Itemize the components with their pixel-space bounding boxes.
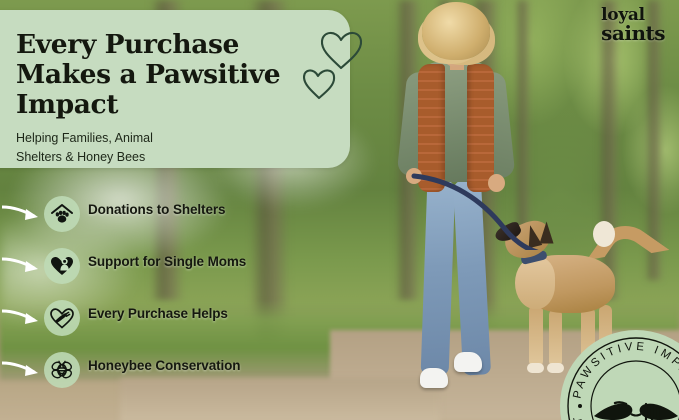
woman-hair — [422, 2, 490, 60]
list-item: Support for Single Moms — [0, 242, 340, 294]
woman-hand — [406, 168, 422, 184]
woman-hand — [488, 174, 505, 192]
feature-list: Donations to Shelters Support for Single… — [0, 190, 340, 398]
woman-shoe — [420, 368, 448, 388]
arrow-right-icon — [2, 253, 42, 277]
arrow-right-icon — [2, 305, 42, 329]
woman-figure — [392, 0, 532, 420]
vest-panel — [467, 64, 494, 192]
dog-ear — [540, 222, 554, 244]
dog-tail-tip — [593, 221, 615, 247]
woman-puffer-vest — [418, 64, 494, 192]
subtitle-line-1: Helping Families, Animal — [16, 129, 276, 148]
woman-jeans — [424, 180, 486, 375]
arrow-right-icon — [2, 201, 42, 225]
status-badge: PAWSITIVE IMPACT PAWSITIVE IMPACT — [560, 330, 679, 420]
woman-shoe — [454, 352, 482, 372]
headline-panel: Every Purchase Makes a Pawsitive Impact … — [0, 10, 350, 168]
woman-leg — [453, 179, 491, 375]
page-subtitle: Helping Families, Animal Shelters & Hone… — [16, 129, 276, 167]
vest-panel — [418, 64, 445, 192]
list-item: Every Purchase Helps — [0, 294, 340, 346]
pawsitive-impact-stamp: PAWSITIVE IMPACT PAWSITIVE IMPACT — [560, 330, 679, 420]
house-paw-icon — [44, 196, 80, 232]
arrow-right-icon — [2, 357, 42, 381]
page-title: Every Purchase Makes a Pawsitive Impact — [16, 30, 316, 120]
honeybee-icon — [44, 352, 80, 388]
feature-label: Every Purchase Helps — [88, 306, 228, 321]
feature-label: Honeybee Conservation — [88, 358, 240, 373]
list-item: Honeybee Conservation — [0, 346, 340, 398]
brand-logo[interactable]: loyal saints — [601, 8, 665, 42]
headline-line-3: Impact — [16, 90, 316, 120]
woman-leg — [421, 180, 456, 376]
heart-mother-child-icon — [44, 248, 80, 284]
subtitle-line-2: Shelters & Honey Bees — [16, 148, 276, 167]
list-item: Donations to Shelters — [0, 190, 340, 242]
feature-label: Support for Single Moms — [88, 254, 246, 269]
logo-line-2: saints — [601, 24, 665, 42]
feature-label: Donations to Shelters — [88, 202, 225, 217]
heart-hand-coin-icon — [44, 300, 80, 336]
handshake-paw-icon — [594, 402, 678, 420]
headline-line-2: Makes a Pawsitive — [16, 60, 316, 90]
headline-line-1: Every Purchase — [16, 30, 316, 60]
